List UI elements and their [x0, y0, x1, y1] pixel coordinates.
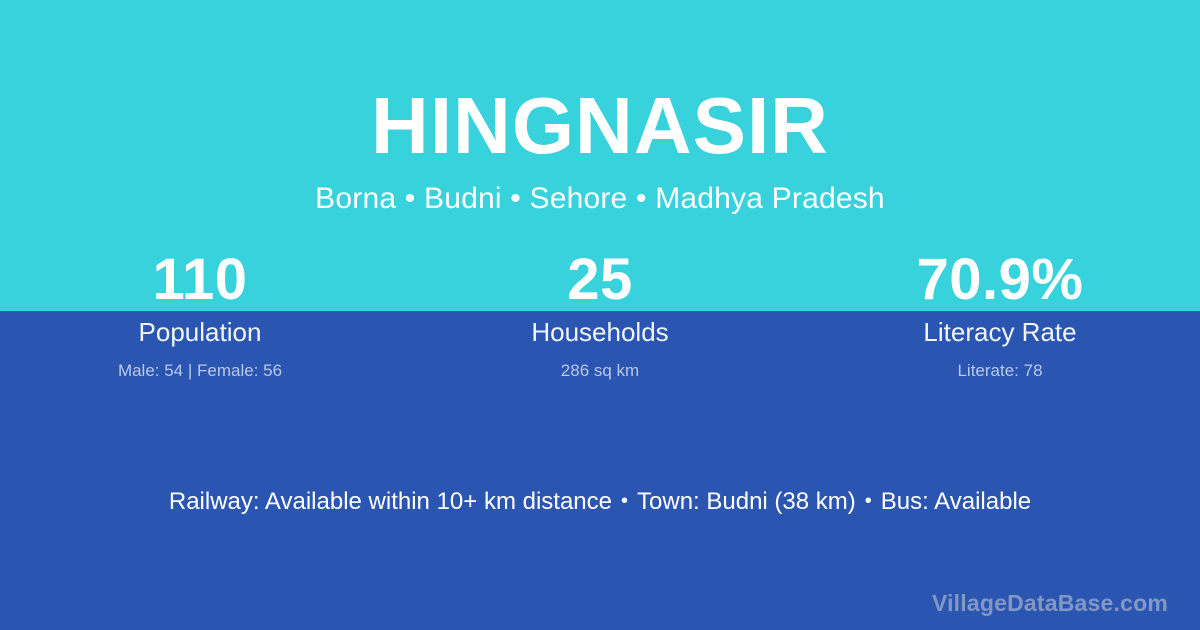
stat-households-label: Households — [400, 314, 800, 350]
stat-literacy-detail: Literate: 78 — [800, 359, 1200, 383]
page-title: HINGNASIR — [0, 86, 1200, 166]
stats-row: 110 Population Male: 54 | Female: 56 25 … — [0, 248, 1200, 383]
fact-town: Town: Budni (38 km) — [637, 488, 856, 515]
breadcrumb: Borna • Budni • Sehore • Madhya Pradesh — [0, 181, 1200, 217]
stat-population: 110 Population Male: 54 | Female: 56 — [0, 248, 400, 383]
fact-separator-2: • — [856, 490, 881, 512]
stat-population-value: 110 — [0, 248, 400, 312]
stat-population-detail: Male: 54 | Female: 56 — [0, 359, 400, 383]
stat-households-value: 25 — [400, 248, 800, 312]
stat-households: 25 Households 286 sq km — [400, 248, 800, 383]
amenities-line: Railway: Available within 10+ km distanc… — [0, 485, 1200, 518]
site-watermark: VillageDataBase.com — [932, 588, 1168, 618]
fact-railway: Railway: Available within 10+ km distanc… — [169, 488, 612, 515]
village-info-card: HINGNASIR Borna • Budni • Sehore • Madhy… — [0, 0, 1200, 630]
stat-population-label: Population — [0, 314, 400, 350]
fact-separator-1: • — [612, 490, 637, 512]
stat-literacy-value: 70.9% — [800, 248, 1200, 312]
fact-bus: Bus: Available — [881, 488, 1031, 515]
stat-literacy: 70.9% Literacy Rate Literate: 78 — [800, 248, 1200, 383]
stat-households-detail: 286 sq km — [400, 359, 800, 383]
stat-literacy-label: Literacy Rate — [800, 314, 1200, 350]
